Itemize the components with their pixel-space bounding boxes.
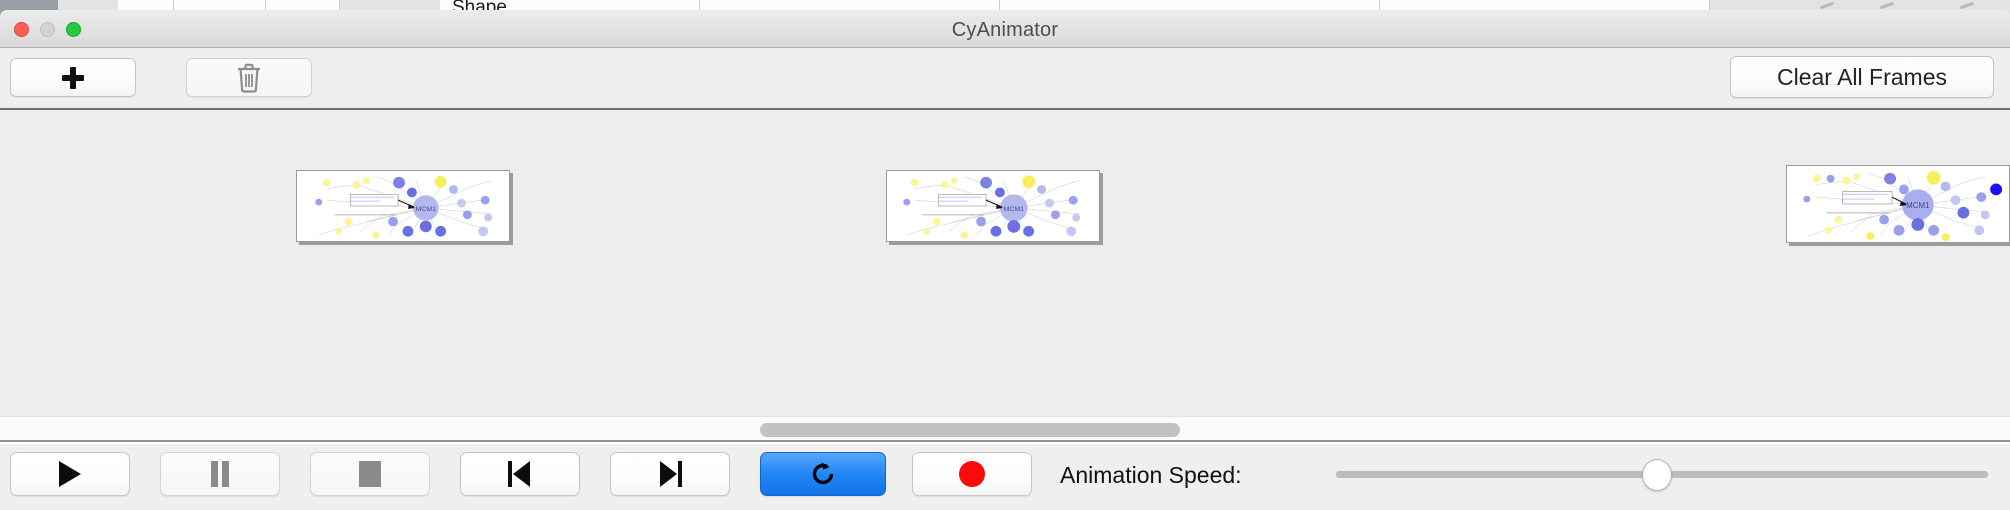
skip-back-icon [507,461,533,487]
record-icon [959,461,985,487]
skip-forward-button[interactable] [610,452,730,496]
animation-speed-label: Animation Speed: [1060,462,1242,489]
record-button[interactable] [912,452,1032,496]
clear-all-frames-button[interactable]: Clear All Frames [1730,56,1994,98]
cyanimator-window: Shape CyAnimator Clear All Frames [0,0,2010,510]
svg-text:MCM1: MCM1 [1906,201,1929,210]
scrollbar-thumb[interactable] [760,423,1180,437]
timeline-frame-1[interactable]: MCM1 [296,170,510,242]
skip-back-button[interactable] [460,452,580,496]
pause-button[interactable] [160,452,280,496]
network-thumbnail: MCM1 [297,171,509,241]
timeline-frame-3[interactable]: MCM1 [1786,165,2010,243]
animation-speed-slider[interactable] [1336,452,1988,496]
stop-button[interactable] [310,452,430,496]
clear-all-frames-label: Clear All Frames [1777,64,1947,91]
loop-button[interactable] [760,452,886,496]
slider-thumb[interactable] [1642,459,1672,491]
horizontal-scrollbar[interactable] [0,416,2010,442]
skip-forward-icon [657,461,683,487]
timeline-frame-2[interactable]: MCM1 [886,170,1100,242]
timeline-panel[interactable]: MCM1 [0,110,2010,420]
play-icon [59,461,81,487]
window-title: CyAnimator [0,19,2010,42]
plus-icon [62,67,84,89]
title-bar: CyAnimator [0,10,2010,48]
network-thumbnail: MCM1 [1787,166,2009,242]
toolbar: Clear All Frames [0,48,2010,110]
stop-icon [359,461,381,487]
loop-icon [808,459,838,489]
svg-text:MCM1: MCM1 [1004,206,1025,213]
pause-icon [210,461,230,487]
svg-text:MCM1: MCM1 [416,206,437,213]
play-button[interactable] [10,452,130,496]
trash-icon [236,63,262,93]
add-frame-button[interactable] [10,58,136,97]
playback-bar: Animation Speed: [0,444,2010,510]
network-thumbnail: MCM1 [887,171,1099,241]
delete-frame-button[interactable] [186,58,312,97]
